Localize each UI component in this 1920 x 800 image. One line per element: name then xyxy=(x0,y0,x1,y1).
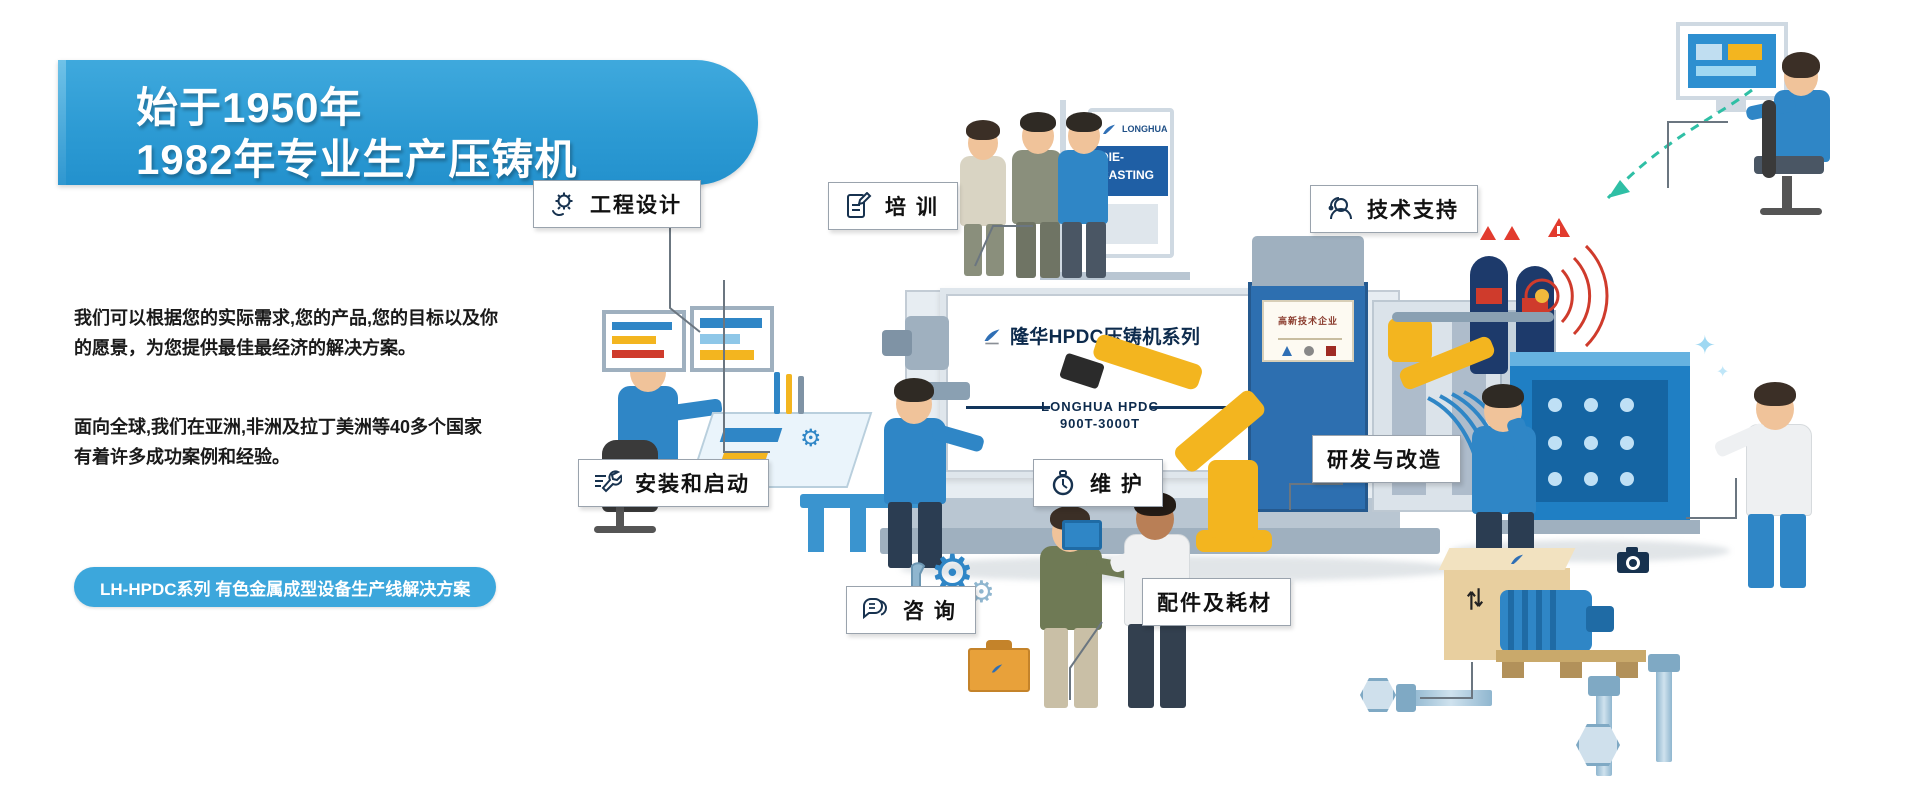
motor-fin-1 xyxy=(1508,590,1514,652)
training-3-leg-1 xyxy=(1062,222,1082,278)
machine-model-line1: LONGHUA HPDC xyxy=(946,398,1254,415)
mold-engineer-leg-1 xyxy=(1748,514,1774,588)
warning-triangle-small-2 xyxy=(1504,226,1520,240)
sparkle-icon: ✦ xyxy=(1694,330,1716,361)
callout-install-startup[interactable]: 安装和启动 xyxy=(578,459,769,507)
gear-sketch-icon: ⚙ xyxy=(800,424,822,453)
cylinder-band-1 xyxy=(1476,288,1502,304)
solution-pill-label: LH-HPDC系列 有色金属成型设备生产线解决方案 xyxy=(100,575,470,600)
worker-left-hair xyxy=(894,378,934,402)
callout-label-tech-support: 技术支持 xyxy=(1367,194,1459,224)
certificate-badge-3 xyxy=(1326,346,1336,356)
cad-chart-bar-2 xyxy=(612,336,656,344)
pallet-block-2 xyxy=(1560,662,1582,678)
hex-nut-1 xyxy=(1360,678,1396,712)
pallet-block-1 xyxy=(1502,662,1524,678)
consultant-b-leg-2 xyxy=(1160,624,1186,708)
warning-triangle-small-1 xyxy=(1480,226,1496,240)
training-3-torso xyxy=(1058,150,1108,224)
worker-left-leg-1 xyxy=(888,502,912,568)
support-chair-post xyxy=(1782,176,1792,210)
pallet-block-3 xyxy=(1616,662,1638,678)
callout-label-rnd-upgrade: 研发与改造 xyxy=(1327,444,1442,474)
cad-chart-bar-4 xyxy=(700,318,762,328)
callout-label-consultation: 咨 询 xyxy=(903,595,957,625)
toolbox-logo xyxy=(988,662,1006,676)
training-1-leg-1 xyxy=(964,224,982,276)
warning-bang-dot xyxy=(1557,236,1560,239)
poster-canvas: 始于1950年 1982年专业生产压铸机 我们可以根据您的实际需求,您的产品,您… xyxy=(0,0,1920,800)
pencil-3 xyxy=(798,376,804,414)
support-screen-tile-1 xyxy=(1696,44,1722,60)
warning-bang-stem xyxy=(1557,226,1560,234)
nozzle-tip xyxy=(882,330,912,356)
consultant-a-leg-2 xyxy=(1074,628,1098,708)
die-pin-3 xyxy=(1620,398,1634,412)
die-pin-8 xyxy=(1584,472,1598,486)
hex-nut-2 xyxy=(1576,724,1620,766)
mold-engineer-figure xyxy=(1722,370,1852,590)
support-chair-back xyxy=(1762,100,1776,178)
cad-chart-bar-3 xyxy=(612,350,664,358)
camera-icon xyxy=(1616,546,1650,574)
kiosk-brand: LONGHUA xyxy=(1122,124,1168,134)
callout-label-parts-consumables: 配件及耗材 xyxy=(1157,587,1272,617)
callout-consultation[interactable]: 咨 询 xyxy=(846,586,976,634)
callout-maintenance[interactable]: 维 护 xyxy=(1033,459,1163,507)
bolt-1-head xyxy=(1396,684,1416,712)
pencil-1 xyxy=(774,372,780,414)
blueprint-mark-1 xyxy=(720,428,783,442)
support-agent-figure xyxy=(1748,40,1868,220)
cad-chart-bar-5 xyxy=(700,334,740,344)
motor-fin-4 xyxy=(1550,590,1556,652)
box-fragile-arrows-icon xyxy=(1466,586,1484,612)
hero-line-2: 1982年专业生产压铸机 xyxy=(136,126,577,187)
wrench-icon xyxy=(593,468,623,498)
certificate-text: 高新技术企业 xyxy=(1264,314,1352,327)
toolbox-handle xyxy=(986,640,1012,650)
hero-banner: 始于1950年 1982年专业生产压铸机 xyxy=(58,60,758,185)
callout-tech-support[interactable]: 技术支持 xyxy=(1310,185,1478,233)
callout-label-install-startup: 安装和启动 xyxy=(635,468,750,498)
certificate-badge-2 xyxy=(1304,346,1314,356)
pallet-deck xyxy=(1496,650,1646,662)
support-agent-hair xyxy=(1782,52,1820,78)
training-1-hair xyxy=(966,120,1000,140)
office-chair-base xyxy=(594,526,656,533)
bolt-2-head xyxy=(1588,676,1620,696)
support-monitor-stand xyxy=(1716,100,1746,112)
fixture-leg-1 xyxy=(808,508,824,552)
consultation-tablet xyxy=(1062,520,1102,550)
bolt-1-shaft xyxy=(1410,690,1492,706)
callout-label-maintenance: 维 护 xyxy=(1090,468,1144,498)
die-pin-5 xyxy=(1584,436,1598,450)
support-chair-base xyxy=(1760,208,1822,215)
motor-fin-3 xyxy=(1536,590,1542,652)
certificate-rule xyxy=(1278,338,1342,340)
support-screen-tile-3 xyxy=(1696,66,1756,76)
callout-engineering-design[interactable]: 工程设计 xyxy=(533,180,701,228)
machine-worker-left xyxy=(862,372,982,572)
die-mold-top-edge xyxy=(1510,352,1690,366)
bolt-3-head xyxy=(1648,654,1680,672)
training-3-hair xyxy=(1066,112,1102,132)
callout-label-engineering-design: 工程设计 xyxy=(590,189,682,219)
mold-engineer-hair xyxy=(1754,382,1796,406)
certificate-plaque: 高新技术企业 xyxy=(1262,300,1354,362)
consultant-b-leg-1 xyxy=(1128,624,1154,708)
chat-bubbles-icon xyxy=(861,595,891,625)
training-person-3 xyxy=(1046,106,1122,278)
solution-pill-banner: LH-HPDC系列 有色金属成型设备生产线解决方案 xyxy=(74,567,496,607)
callout-rnd-upgrade[interactable]: 研发与改造 xyxy=(1312,435,1461,483)
die-pin-6 xyxy=(1620,436,1634,450)
die-pin-2 xyxy=(1584,398,1598,412)
callout-training[interactable]: 培 训 xyxy=(828,182,958,230)
gear-icon xyxy=(548,189,578,219)
worker-right-hair xyxy=(1482,384,1524,408)
machine-display-title: 隆华HPDC压铸机系列 xyxy=(982,322,1200,349)
notepad-pen-icon xyxy=(843,191,873,221)
headset-user-icon xyxy=(1325,194,1355,224)
callout-parts-consumables[interactable]: 配件及耗材 xyxy=(1142,578,1291,626)
mold-engineer-leg-2 xyxy=(1780,514,1806,588)
certificate-badge-1 xyxy=(1282,346,1292,356)
callout-label-training: 培 训 xyxy=(885,191,939,221)
bolt-3-shaft xyxy=(1656,666,1672,762)
consultant-a-leg-1 xyxy=(1044,628,1068,708)
die-pin-9 xyxy=(1620,472,1634,486)
cad-chart-bar-6 xyxy=(700,350,754,360)
top-rail xyxy=(1392,312,1554,322)
leader-tech-support xyxy=(1640,122,1730,192)
pencil-2 xyxy=(786,374,792,414)
motor-fin-2 xyxy=(1522,590,1528,652)
secondary-robot-joint xyxy=(1388,318,1432,362)
cad-chart-bar-1 xyxy=(612,322,672,330)
training-3-leg-2 xyxy=(1086,222,1106,278)
motor-shaft xyxy=(1586,606,1614,632)
box-brand-logo xyxy=(1506,552,1528,568)
cabinet-top-cap xyxy=(1252,236,1364,286)
stopwatch-icon xyxy=(1048,468,1078,498)
training-2-leg-1 xyxy=(1016,222,1036,278)
longhua-logo xyxy=(982,326,1002,346)
